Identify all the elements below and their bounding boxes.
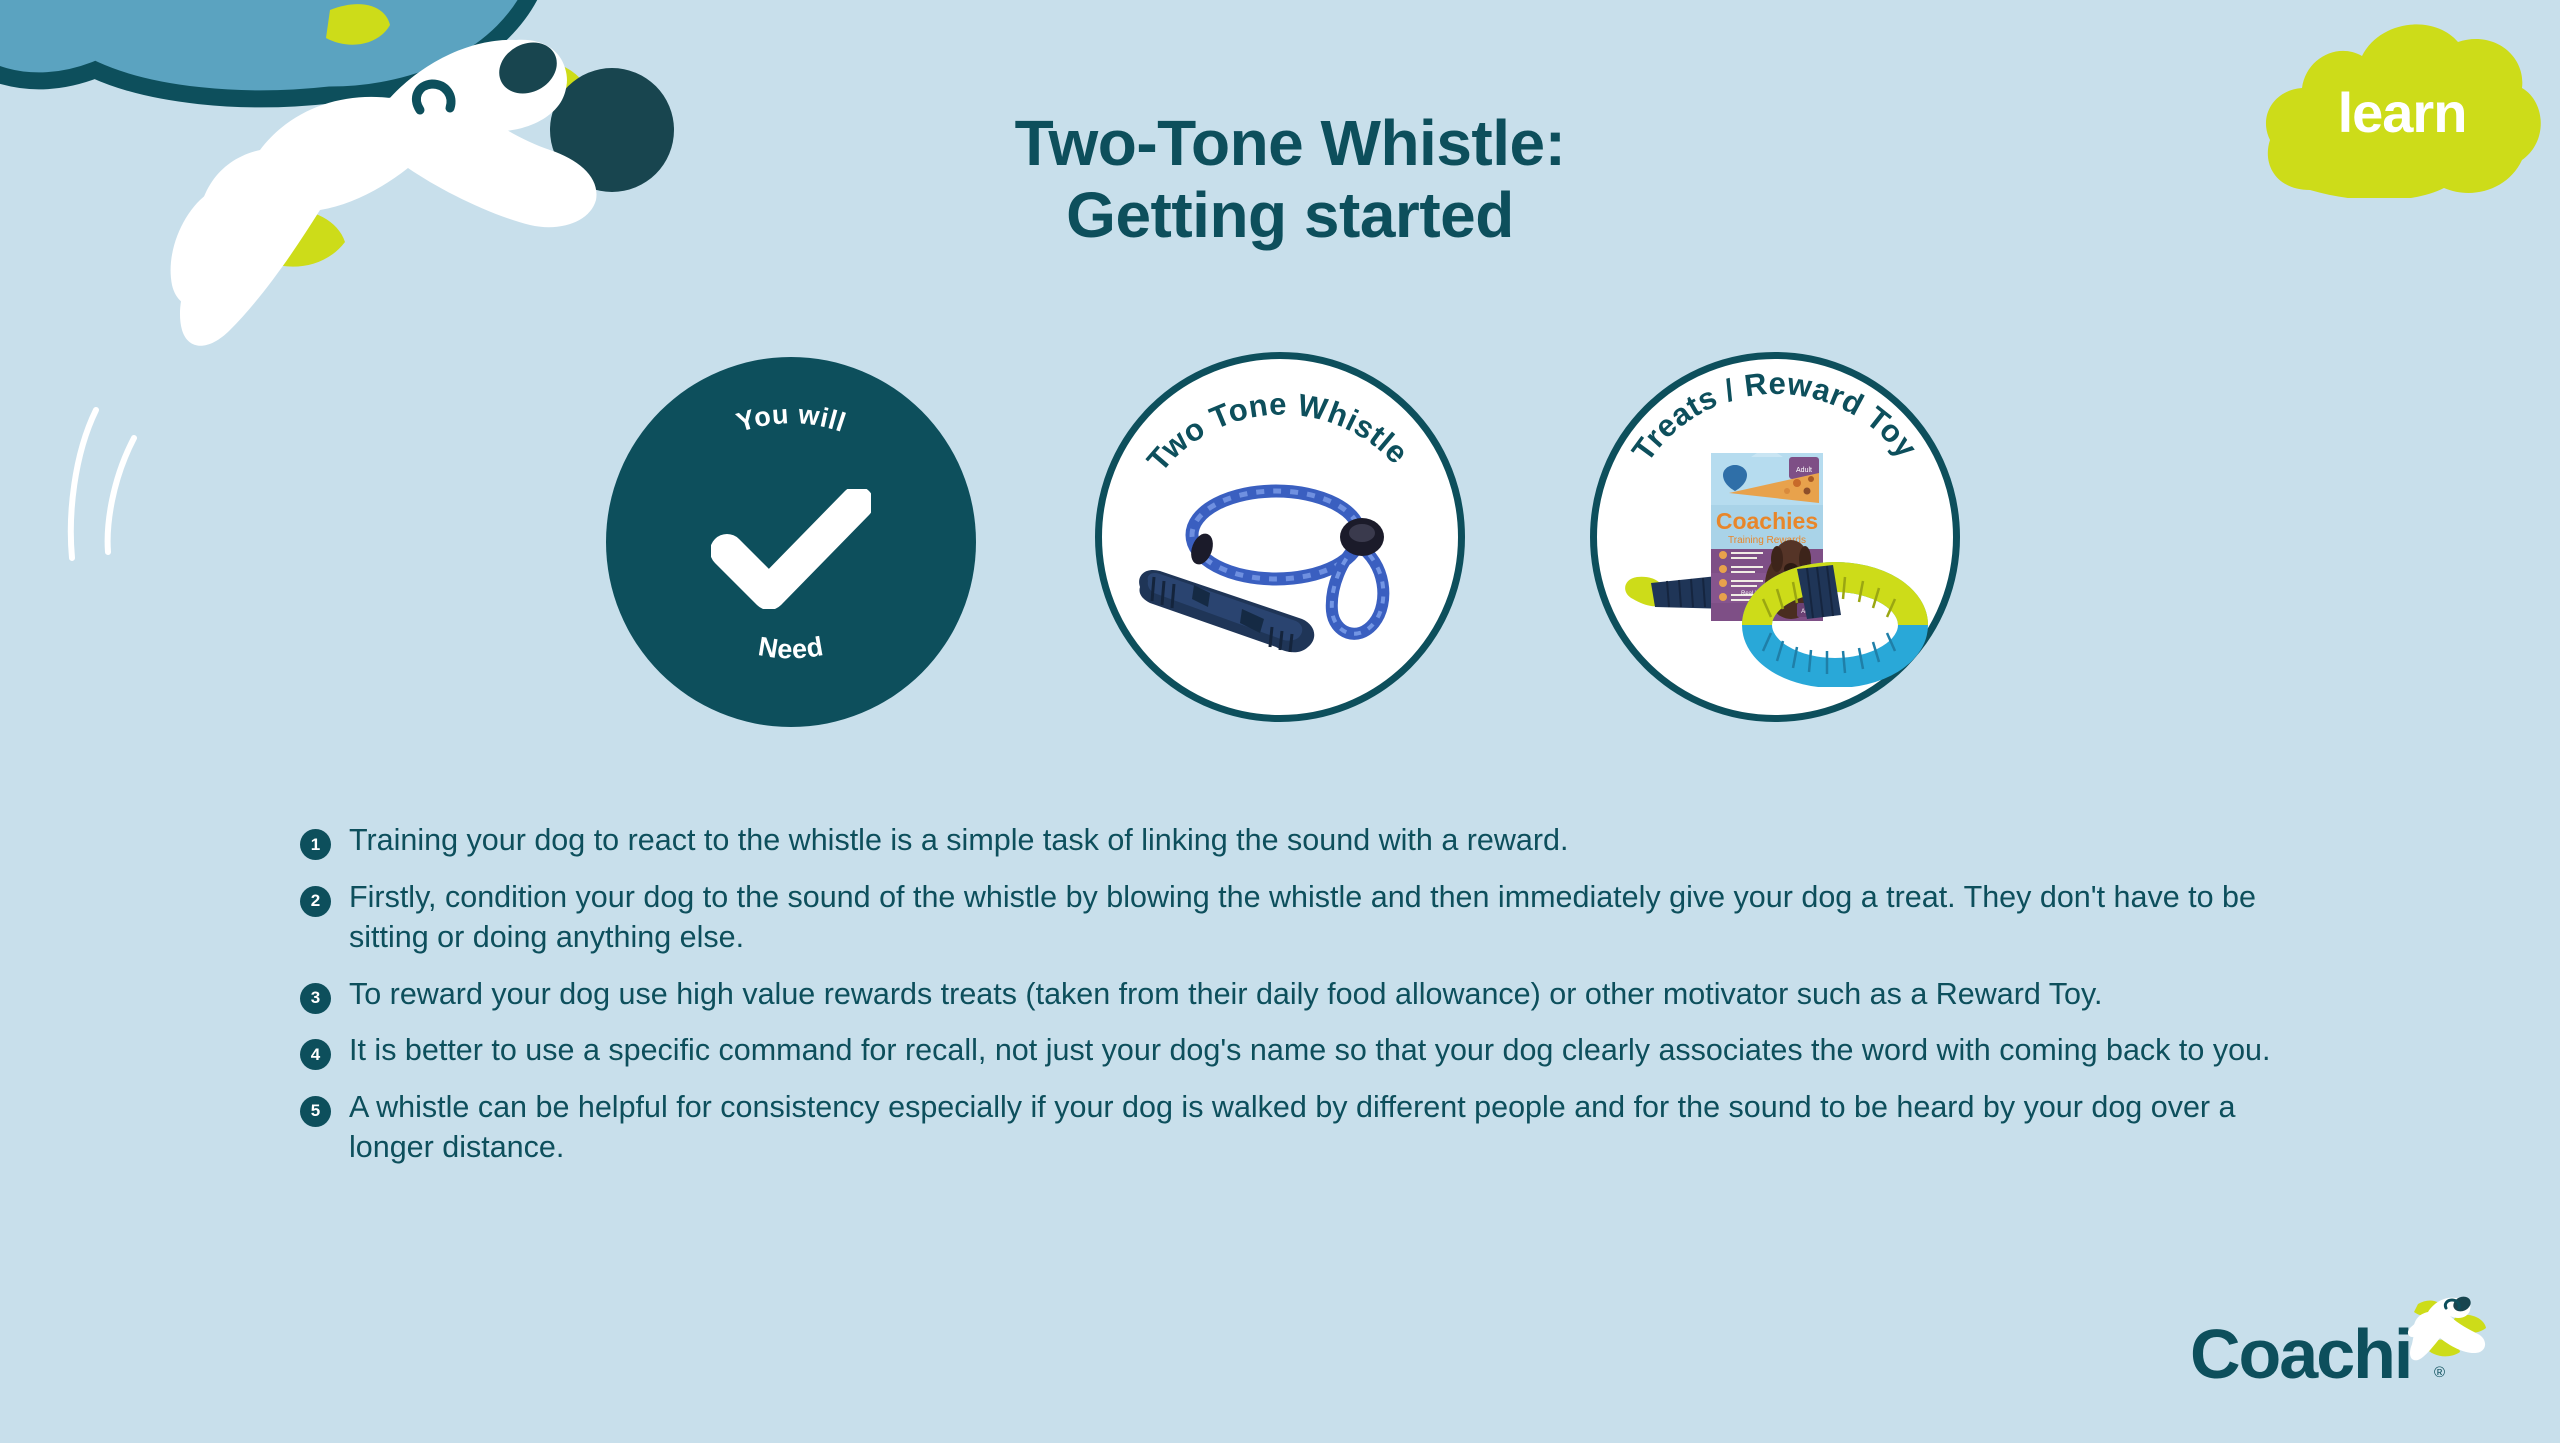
pack-brand-text: Coachies [1716, 508, 1818, 534]
steps-list: 1 Training your dog to react to the whis… [300, 820, 2300, 1184]
step-text: Firstly, condition your dog to the sound… [349, 877, 2289, 958]
treats-and-reward-toy-product-icon: Adult Coachies Training Rewards [1611, 445, 1941, 687]
coachi-logo-text: Coachi [2190, 1314, 2411, 1394]
circle-1-top-label: You will [733, 399, 850, 438]
step-text: A whistle can be helpful for consistency… [349, 1087, 2289, 1168]
coachi-logo: Coachi ® [2190, 1300, 2490, 1410]
circle-1-bottom-label: Need [756, 631, 826, 664]
step-text: To reward your dog use high value reward… [349, 974, 2102, 1015]
circle-2-label: Two Tone Whistle [1140, 387, 1415, 479]
list-item: 5 A whistle can be helpful for consisten… [300, 1087, 2300, 1168]
list-item: 1 Training your dog to react to the whis… [300, 820, 2300, 861]
svg-text:Adult: Adult [1796, 467, 1812, 474]
learn-badge[interactable]: learn [2262, 18, 2542, 198]
infographic-page: learn Two-Tone Whistle: Getting started … [0, 0, 2560, 1443]
learn-badge-label: learn [2262, 18, 2542, 198]
registered-trademark-mark: ® [2434, 1364, 2445, 1381]
step-text: Training your dog to react to the whistl… [349, 820, 1568, 861]
step-badge: 2 [300, 886, 331, 917]
step-badge: 3 [300, 983, 331, 1014]
list-item: 3 To reward your dog use high value rewa… [300, 974, 2300, 1015]
page-title: Two-Tone Whistle: Getting started [560, 108, 2020, 251]
circle-you-will-need: You will Need [606, 357, 976, 727]
step-badge: 4 [300, 1039, 331, 1070]
list-item: 2 Firstly, condition your dog to the sou… [300, 877, 2300, 958]
check-mark-icon [711, 489, 871, 609]
requirements-circles: You will Need Two Tone Whi [600, 350, 1980, 735]
list-item: 4 It is better to use a specific command… [300, 1030, 2300, 1071]
motion-lines-icon [40, 400, 240, 570]
step-text: It is better to use a specific command f… [349, 1030, 2270, 1071]
step-badge: 5 [300, 1096, 331, 1127]
page-title-line-1: Two-Tone Whistle: [560, 108, 2020, 180]
step-badge: 1 [300, 829, 331, 860]
two-tone-whistle-product-icon [1124, 471, 1440, 671]
circle-treats-reward-toy: Treats / Reward Toy [1590, 352, 1960, 722]
leaping-dog-mascot-icon [2384, 1286, 2494, 1366]
circle-two-tone-whistle: Two Tone Whistle [1095, 352, 1465, 722]
page-title-line-2: Getting started [560, 180, 2020, 252]
